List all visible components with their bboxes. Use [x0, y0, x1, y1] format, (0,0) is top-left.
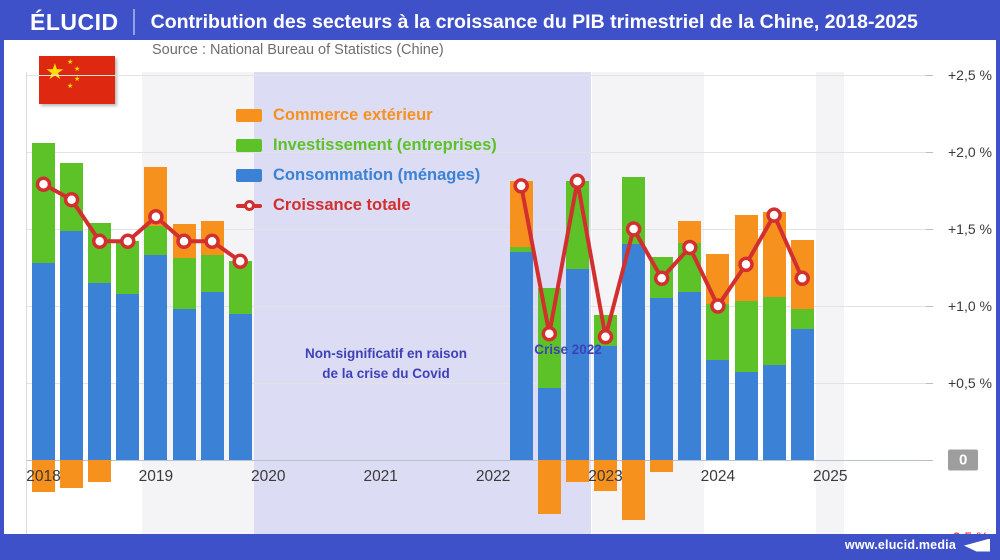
x-axis-label-2019: 2019 — [139, 468, 173, 486]
legend-label: Croissance totale — [273, 196, 411, 215]
growth-point-marker — [684, 242, 696, 254]
chart-frame: ÉLUCID Contribution des secteurs à la cr… — [0, 0, 1000, 560]
y-tick-+2,5 % — [926, 75, 933, 76]
legend-label: Commerce extérieur — [273, 106, 433, 125]
x-axis-label-2018: 2018 — [26, 468, 60, 486]
growth-point-marker — [768, 209, 780, 221]
x-axis-label-2020: 2020 — [251, 468, 285, 486]
growth-point-marker — [122, 235, 134, 247]
covid-note: Non-significatif en raisonde la crise du… — [305, 344, 467, 383]
page-title: Contribution des secteurs à la croissanc… — [135, 11, 918, 34]
legend-line-icon — [236, 199, 262, 212]
growth-point-marker — [712, 300, 724, 312]
growth-point-marker — [796, 272, 808, 284]
header-bar: ÉLUCID Contribution des secteurs à la cr… — [4, 4, 1000, 40]
y-axis-label-05: +0,5 % — [948, 375, 992, 391]
x-axis-label-2023: 2023 — [588, 468, 622, 486]
y-tick-+2,0 % — [926, 152, 933, 153]
growth-point-marker — [543, 328, 555, 340]
growth-point-marker — [571, 175, 583, 187]
legend-item-0[interactable]: Commerce extérieur — [236, 100, 497, 130]
covid-note-line-1: de la crise du Covid — [305, 364, 467, 384]
y-axis-label-15: +1,5 % — [948, 221, 992, 237]
growth-point-marker — [628, 223, 640, 235]
legend-item-3[interactable]: Croissance totale — [236, 190, 497, 220]
y-tick-+1,0 % — [926, 306, 933, 307]
footer-url[interactable]: www.elucid.media — [845, 538, 956, 552]
x-axis-label-2025: 2025 — [813, 468, 847, 486]
y-tick-0 — [926, 460, 933, 461]
elucid-mark-icon — [964, 539, 990, 552]
elucid-logo: ÉLUCID — [4, 4, 133, 40]
legend-item-1[interactable]: Investissement (entreprises) — [236, 130, 497, 160]
covid-note-line-0: Non-significatif en raison — [305, 344, 467, 364]
legend-label: Consommation (ménages) — [273, 166, 480, 185]
growth-point-marker — [94, 235, 106, 247]
y-axis-zero-badge: 0 — [948, 450, 978, 471]
legend-swatch-icon — [236, 139, 262, 152]
growth-point-marker — [206, 235, 218, 247]
footer-bar: www.elucid.media — [4, 534, 1000, 556]
x-axis-label-2024: 2024 — [701, 468, 735, 486]
crise-2022: Crise 2022 — [534, 340, 602, 360]
growth-point-marker — [38, 178, 50, 190]
growth-point-marker — [656, 272, 668, 284]
growth-point-marker — [515, 180, 527, 192]
flag-star-1: ★ — [67, 59, 73, 66]
growth-point-marker — [740, 258, 752, 270]
source-note: Source : National Bureau of Statistics (… — [152, 42, 444, 58]
y-tick-+1,5 % — [926, 229, 933, 230]
x-axis-label-2021: 2021 — [363, 468, 397, 486]
chart-legend: Commerce extérieurInvestissement (entrep… — [236, 100, 497, 220]
y-axis-label-20: +2,0 % — [948, 144, 992, 160]
y-axis-label-25: +2,5 % — [948, 67, 992, 83]
x-axis-label-2022: 2022 — [476, 468, 510, 486]
legend-swatch-icon — [236, 109, 262, 122]
crise-2022-line-0: Crise 2022 — [534, 340, 602, 360]
growth-point-marker — [234, 255, 246, 267]
legend-item-2[interactable]: Consommation (ménages) — [236, 160, 497, 190]
legend-label: Investissement (entreprises) — [273, 136, 497, 155]
growth-point-marker — [66, 194, 78, 206]
growth-point-marker — [150, 211, 162, 223]
growth-line-path — [521, 181, 802, 336]
legend-swatch-icon — [236, 169, 262, 182]
y-tick-+0,5 % — [926, 383, 933, 384]
growth-point-marker — [178, 235, 190, 247]
y-axis-label-10: +1,0 % — [948, 298, 992, 314]
